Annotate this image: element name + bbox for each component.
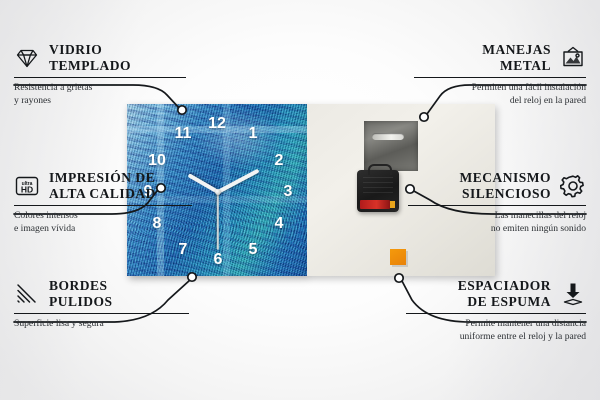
feature-title: ESPACIADOR DE ESPUMA (458, 278, 551, 310)
feature-title: VIDRIO TEMPLADO (49, 42, 131, 74)
feature-vidrio-templado: VIDRIO TEMPLADO Resistencia a grietas y … (14, 42, 186, 108)
feature-divider (14, 313, 189, 315)
feature-description: Resistencia a grietas y rayones (14, 82, 186, 108)
feature-divider (406, 313, 586, 315)
feature-divider (14, 77, 186, 79)
feature-description: Colores intensos e imagen vívida (14, 210, 192, 236)
feature-divider (414, 77, 586, 79)
feature-divider (14, 205, 192, 207)
diamond-icon (14, 45, 40, 71)
feature-manejas-metal: MANEJAS METAL Permiten una fácil instala… (414, 42, 586, 108)
feature-bordes-pulidos: BORDES PULIDOS Superficie lisa y segura (14, 278, 189, 331)
connector-dot-manejas (420, 113, 428, 121)
infographic-canvas: 12 1 2 3 4 5 6 7 8 9 10 11 (0, 0, 600, 400)
ultra-hd-large: HD (21, 184, 33, 194)
feature-impresion-alta-calidad: ultra HD IMPRESIÓN DE ALTA CALIDAD Color… (14, 170, 192, 236)
gear-icon (560, 173, 586, 199)
feature-description: Permite mantener una distancia uniforme … (406, 318, 586, 344)
foam-spacer-arrow-icon (560, 281, 586, 307)
feature-description: Las manecillas del reloj no emiten ningú… (408, 210, 586, 236)
connector-dot-bordes (188, 273, 196, 281)
feature-title: BORDES PULIDOS (49, 278, 113, 310)
ultra-hd-icon: ultra HD (14, 173, 40, 199)
feature-title: MECANISMO SILENCIOSO (460, 170, 552, 202)
feature-description: Permiten una fácil instalación del reloj… (414, 82, 586, 108)
polished-edges-icon (14, 281, 40, 307)
feature-description: Superficie lisa y segura (14, 318, 189, 331)
feature-title: IMPRESIÓN DE ALTA CALIDAD (49, 170, 156, 202)
feature-title: MANEJAS METAL (482, 42, 551, 74)
feature-divider (408, 205, 586, 207)
connector-dot-espaciador (395, 274, 403, 282)
feature-espaciador-espuma: ESPACIADOR DE ESPUMA Permite mantener un… (406, 278, 586, 344)
feature-mecanismo-silencioso: MECANISMO SILENCIOSO Las manecillas del … (408, 170, 586, 236)
picture-frame-hanger-icon (560, 45, 586, 71)
